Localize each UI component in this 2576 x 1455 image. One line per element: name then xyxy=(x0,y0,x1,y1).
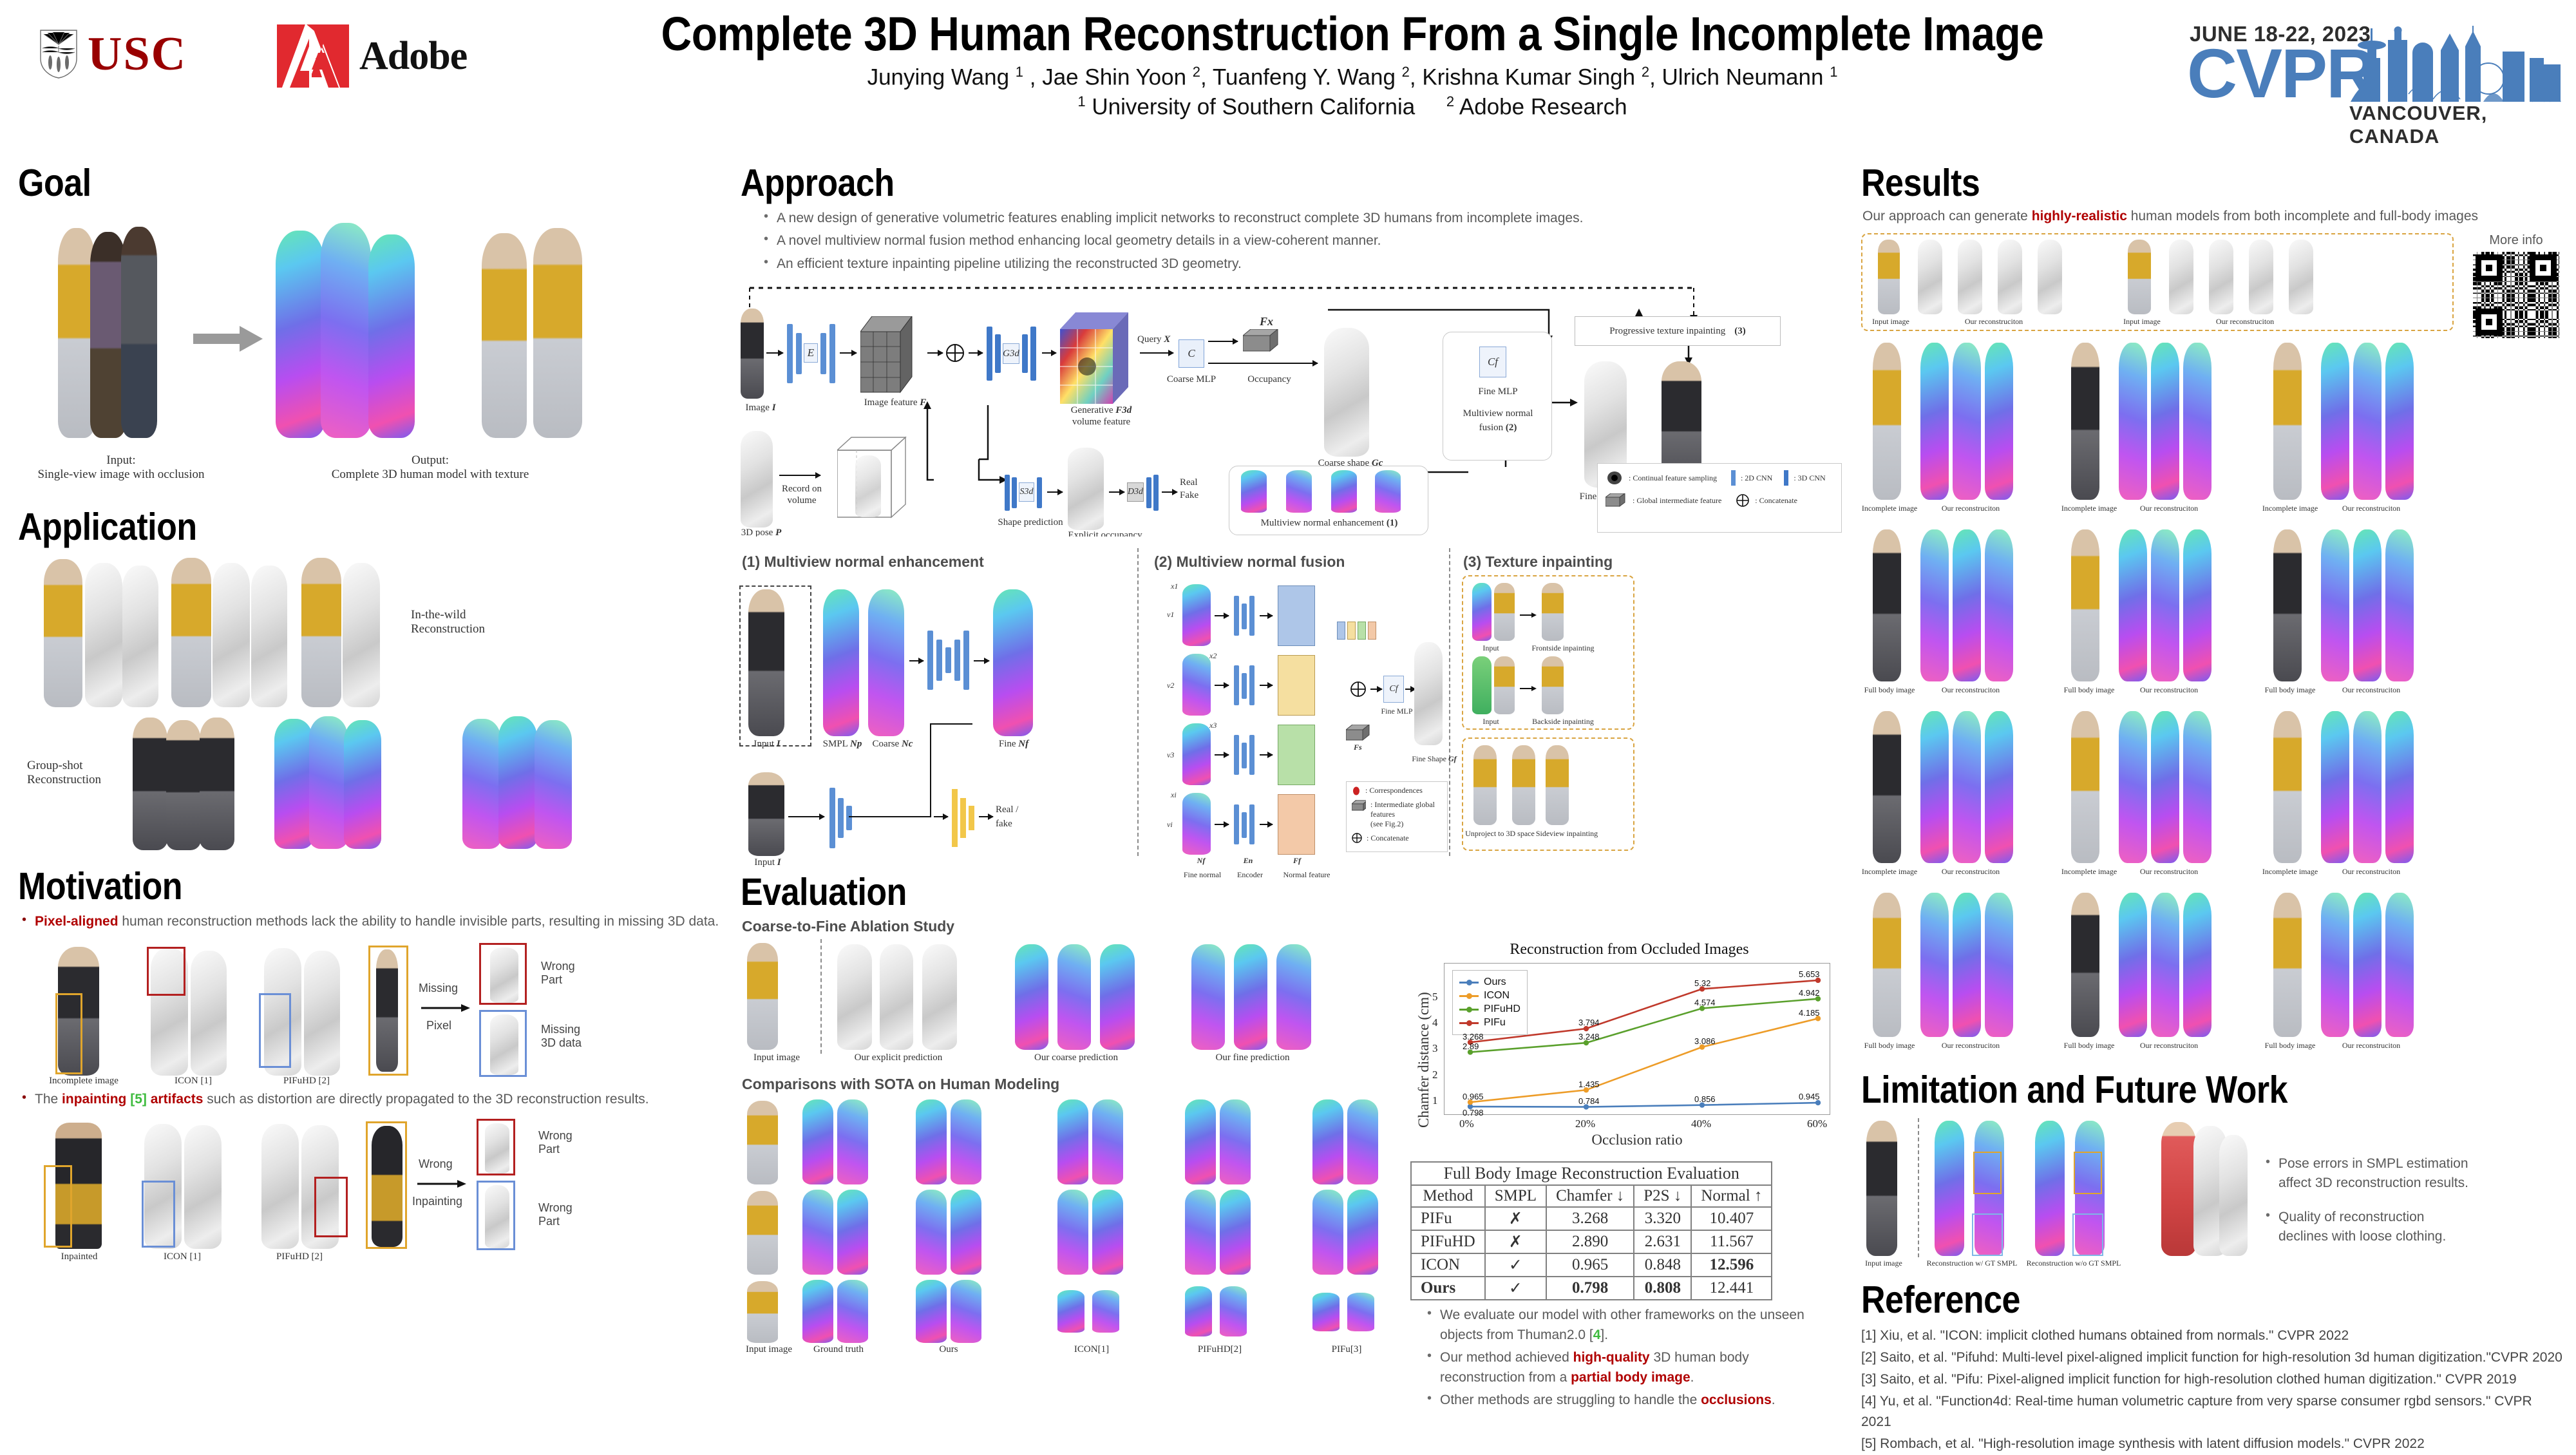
r3-label-5: Our reconstruciton xyxy=(2333,867,2410,877)
sota-r2-icon-1 xyxy=(1057,1190,1088,1275)
r2-o1b xyxy=(1953,529,1981,681)
goal-output-normal-1 xyxy=(276,231,325,438)
eval-r2-p2s: 0.848 xyxy=(1634,1253,1691,1277)
r4-in-3 xyxy=(2273,893,2302,1037)
motivation-out-mesh-3 xyxy=(485,1123,509,1174)
legend-concat-icon xyxy=(1736,493,1750,508)
results-top-label-1: Our reconstruciton xyxy=(1949,317,2039,327)
motivation-yellow-box-4 xyxy=(366,1121,407,1249)
motivation-bullet-2-post: such as distortion are directly propagat… xyxy=(203,1092,649,1107)
qr-code-icon[interactable] xyxy=(2473,252,2559,338)
goal-output-textured-1 xyxy=(482,233,527,438)
r4-label-0: Full body image xyxy=(1861,1041,1920,1051)
approach-title: Approach xyxy=(741,161,1848,205)
pipeline-fusion-text-2: fusion xyxy=(1479,423,1504,433)
r3-in-2 xyxy=(2071,711,2099,863)
r2-o1c xyxy=(1985,529,2013,681)
r4-in-1 xyxy=(1873,893,1901,1037)
sota-r2-pifuhd-2 xyxy=(1220,1190,1251,1275)
results-top-label-2: Input image xyxy=(2116,317,2168,327)
r4-in-2 xyxy=(2071,893,2099,1037)
lim-dress-photo xyxy=(2161,1122,2196,1256)
legend-item-ours: Ours xyxy=(1459,976,1520,988)
pipeline-arrow-7 xyxy=(1208,341,1238,342)
sub3-a-out-label: Frontside inpainting xyxy=(1528,643,1598,653)
r3-o1b xyxy=(1953,711,1981,863)
motivation-icon2-recon-2 xyxy=(184,1125,222,1249)
r4-o3c xyxy=(2385,893,2414,1037)
sub1-smpl-label: SMPL Np xyxy=(817,739,868,750)
sota-r3-pifuhd-2 xyxy=(1220,1286,1247,1336)
pipeline-mv-enh-1 xyxy=(1241,470,1267,513)
eval-th-method: Method xyxy=(1411,1185,1485,1207)
sub3-c-1 xyxy=(1473,745,1497,825)
chart-y-tick: 4 xyxy=(1432,1016,1438,1029)
motivation-blue-box-1 xyxy=(259,993,291,1068)
sub2-legend-igf-2: (see Fig.2) xyxy=(1370,819,1442,829)
sub2-vi: vi xyxy=(1167,820,1173,830)
motivation-arrow-icon-2 xyxy=(417,1179,466,1192)
r1-in-3 xyxy=(2273,343,2302,500)
motivation-crop-2 xyxy=(372,1126,402,1247)
motivation-out-mesh-2 xyxy=(490,1014,518,1075)
r4-label-1: Our reconstruciton xyxy=(1932,1041,2009,1051)
eval-r2-normal: 12.596 xyxy=(1691,1253,1772,1277)
pipeline-query-sym: X xyxy=(1164,334,1170,345)
r4-o1b xyxy=(1953,893,1981,1037)
sota-r2-gt-2 xyxy=(837,1190,868,1275)
chart-x-tick: 20% xyxy=(1575,1117,1595,1130)
results-subtitle-strong: highly-realistic xyxy=(2032,209,2127,223)
motivation-row2-cap-2: ICON [1] xyxy=(147,1251,218,1262)
motivation-yellow-box-1 xyxy=(55,993,82,1074)
eval-r0-method: PIFu xyxy=(1411,1207,1485,1230)
results-top-r2a xyxy=(2169,240,2193,314)
reference-item-0: [1] Xiu, et al. "ICON: implicit clothed … xyxy=(1861,1326,2563,1346)
results-subtitle-pre: Our approach can generate xyxy=(1862,209,2032,223)
motivation-out-label-4-l2: Part xyxy=(538,1215,573,1228)
r1-o1c xyxy=(1985,343,2013,500)
eval-r0-normal: 10.407 xyxy=(1691,1207,1772,1230)
pipeline-volume-mesh xyxy=(855,455,881,517)
sub3-b-in-1 xyxy=(1472,656,1492,714)
sub1-input2-text: Input xyxy=(754,857,775,868)
motivation-bullet-2-strong2: artifacts xyxy=(151,1092,204,1107)
r2-label-5: Our reconstruciton xyxy=(2333,685,2410,695)
motivation-row2-cap-1: Inpainted xyxy=(44,1251,115,1262)
motivation-crop-1 xyxy=(376,949,398,1072)
cvpr-logo: JUNE 18-22, 2023 CVPR VANCOUVER, CANADA xyxy=(2190,12,2563,134)
sub2-feat-4 xyxy=(1278,794,1315,855)
eval-table-header-row: Method SMPL Chamfer ↓ P2S ↓ Normal ↑ xyxy=(1411,1185,1772,1207)
pipeline-generative-text-1: Generative xyxy=(1071,405,1113,415)
goal-output-normal-3 xyxy=(368,234,415,438)
chart-x-tick: 40% xyxy=(1691,1117,1711,1130)
app-group-norm-2 xyxy=(309,716,348,849)
sub3-box-a: Input Frontside inpainting Input Backsid… xyxy=(1462,575,1634,730)
sota-r1-pifu-2 xyxy=(1347,1099,1378,1184)
subdiagram-2-title: (2) Multiview normal fusion xyxy=(1154,553,1443,571)
motivation-bullet-list-2: The inpainting [5] artifacts such as dis… xyxy=(18,1090,733,1109)
sub1-arrow-1 xyxy=(909,660,923,661)
evaluation-bullet-2: Other methods are struggling to handle t… xyxy=(1423,1391,1835,1410)
sub2-concat-icon xyxy=(1350,681,1367,701)
r1-o3b xyxy=(2353,343,2382,500)
motivation-out-red-2 xyxy=(477,1119,515,1175)
motivation-out-label-3-l2: Part xyxy=(538,1143,573,1156)
pipeline-fx-text: Fx xyxy=(1260,315,1273,328)
legend-item-pifuhd: PIFuHD xyxy=(1459,1003,1520,1015)
chart-x-tick: 60% xyxy=(1807,1117,1827,1130)
sub1-input-label: Input I xyxy=(744,739,790,750)
motivation-bullet-2: The inpainting [5] artifacts such as dis… xyxy=(18,1090,733,1109)
sub1-smpl-text: SMPL xyxy=(823,739,848,749)
motivation-icon-recon-2 xyxy=(191,951,227,1076)
sota-r1-ours-2 xyxy=(951,1099,981,1184)
sub2-fine-shape-sym: Gf xyxy=(1448,754,1457,763)
motivation-out-label-3-l1: Wrong xyxy=(538,1129,573,1143)
sub2-global-feature-legend-icon xyxy=(1352,800,1366,812)
motivation-out-mesh-1 xyxy=(490,947,518,1003)
pipeline-fine-mlp: Cf xyxy=(1479,347,1506,377)
ablation-figure: Input image Our explicit prediction Our … xyxy=(741,939,1404,1068)
goal-input-person-3 xyxy=(121,227,157,438)
pipeline-arrow-11 xyxy=(1109,491,1124,493)
eval-r2-smpl: ✓ xyxy=(1485,1253,1546,1277)
approach-subdiagrams: (1) Multiview normal enhancement Input I… xyxy=(741,548,1848,857)
sota-r3-gt-2 xyxy=(837,1280,868,1343)
pipeline-fusion-label-1: Multiview normal xyxy=(1443,408,1553,419)
sub1-input-img xyxy=(748,589,784,736)
chart-y-tick: 5 xyxy=(1432,991,1438,1003)
eval-r0-smpl: ✗ xyxy=(1485,1207,1546,1230)
r2-o2a xyxy=(2119,529,2147,681)
sota-r1-pifuhd-1 xyxy=(1185,1099,1216,1184)
sub1-arrow-4 xyxy=(934,816,948,817)
motivation-pifuhd2-recon-1 xyxy=(261,1124,299,1249)
pipeline-3dpose-mesh xyxy=(741,431,773,528)
pipeline-pose-sym: P xyxy=(775,528,781,537)
legend-item-pifu: PIFu xyxy=(1459,1017,1520,1029)
sub1-smpl-normal xyxy=(823,589,859,736)
motivation-out-label-3: Wrong Part xyxy=(538,1129,573,1156)
sota-r3-gt-1 xyxy=(802,1280,833,1343)
pipeline-concat-icon-1 xyxy=(945,343,965,366)
eval-r0-chamfer: 3.268 xyxy=(1546,1207,1634,1230)
right-column: Results Our approach can generate highly… xyxy=(1861,161,2563,1455)
motivation-out-mesh-4 xyxy=(485,1185,509,1248)
results-top-r2b xyxy=(2209,240,2233,314)
sub2-x3: x3 xyxy=(1209,721,1217,730)
sub1-input-sym: I xyxy=(777,739,781,749)
results-subtitle-post: human models from both incomplete and fu… xyxy=(2127,209,2478,223)
lim-input xyxy=(1866,1121,1897,1256)
goal-input-caption-line1: Input: xyxy=(31,453,211,468)
app-person-b1 xyxy=(171,558,211,707)
sub3-b-out-label: Backside inpainting xyxy=(1528,717,1598,727)
sub3-c-in-label: Unproject to 3D space xyxy=(1464,829,1535,839)
chart-point-label: 3.086 xyxy=(1694,1036,1716,1046)
r2-label-0: Full body image xyxy=(1861,685,1920,695)
eval-th-p2s: P2S ↓ xyxy=(1634,1185,1691,1207)
ablation-explicit-2 xyxy=(880,944,913,1050)
r3-o2c xyxy=(2183,711,2211,863)
eval-th-smpl: SMPL xyxy=(1485,1185,1546,1207)
sub2-arrow-2 xyxy=(1215,685,1229,686)
ablation-fine-3 xyxy=(1276,944,1311,1050)
approach-pipeline-figure: Image I E xyxy=(741,279,1848,537)
lim-orange-box-2 xyxy=(2074,1152,2102,1194)
motivation-out-red-1 xyxy=(479,943,527,1005)
pipeline-generative-volume xyxy=(1060,312,1137,410)
results-top-box: Input image Our reconstruciton Input ima… xyxy=(1861,233,2454,331)
evaluation-bullet-1-pre: Our method achieved xyxy=(1440,1350,1573,1365)
pipeline-occupancy-label: Occupancy xyxy=(1240,374,1298,385)
r4-o3a xyxy=(2321,893,2349,1037)
motivation-out-label-1-l2: Part xyxy=(541,973,575,987)
sub2-arrow-4 xyxy=(1215,824,1229,825)
ablation-coarse-3 xyxy=(1100,944,1135,1050)
pipeline-volume-box xyxy=(837,436,914,523)
ablation-subtitle: Coarse-to-Fine Ablation Study xyxy=(742,918,1848,935)
results-row-4: Full body image Our reconstruciton Full … xyxy=(1861,890,2563,1064)
subdiagram-3: (3) Texture inpainting Input Frontside i… xyxy=(1462,548,1655,575)
pipeline-coarse-shape-mesh xyxy=(1324,328,1369,457)
chart-point-label: 0.856 xyxy=(1694,1094,1716,1104)
title-block: Complete 3D Human Reconstruction From a … xyxy=(528,9,2177,122)
pipeline-coarse-mlp-sym: C xyxy=(1188,347,1195,360)
sota-r1-icon-2 xyxy=(1092,1099,1123,1184)
lim-dress-mesh-2 xyxy=(2219,1135,2248,1256)
motivation-yellow-box-3 xyxy=(44,1165,72,1248)
r2-in-1 xyxy=(1873,529,1901,681)
sub2-view-1 xyxy=(1182,584,1211,646)
evaluation-bullet-0: We evaluate our model with other framewo… xyxy=(1423,1306,1835,1345)
evaluation-bullet-0-post: ]. xyxy=(1600,1327,1608,1342)
results-subtitle: Our approach can generate highly-realist… xyxy=(1862,209,2563,224)
poster-header: USC Adobe Complete 3D Human Reconstructi… xyxy=(0,0,2576,148)
pipeline-query-text: Query xyxy=(1137,334,1162,345)
eval-table: Full Body Image Reconstruction Evaluatio… xyxy=(1410,1161,1772,1300)
goal-output-textured-2 xyxy=(533,228,582,438)
lim-gt-1 xyxy=(1935,1121,1964,1256)
legend-2dcnn-label: : 2D CNN xyxy=(1741,473,1772,483)
reference-item-1: [2] Saito, et al. "Pifuhd: Multi-level p… xyxy=(1861,1347,2563,1368)
pipeline-fusion-label-2: fusion (2) xyxy=(1443,423,1553,433)
pipeline-input-image xyxy=(741,309,764,399)
evaluation-bullet-1-strong2: partial body image xyxy=(1571,1370,1690,1385)
r1-label-2: Incomplete image xyxy=(2058,504,2120,513)
chart-point-label: 5.653 xyxy=(1799,969,1820,979)
app-group-photo-2 xyxy=(166,720,201,850)
vancouver-skyline-icon xyxy=(2351,24,2563,103)
subdiagram-1: (1) Multiview normal enhancement Input I… xyxy=(741,548,1127,575)
sub2-fine-shape-text: Fine Shape xyxy=(1412,754,1446,763)
adobe-logo-text: Adobe xyxy=(359,33,467,79)
usc-shield-icon xyxy=(39,29,79,79)
pipeline-mv-enh-box: Multiview normal enhancement (1) xyxy=(1229,466,1428,535)
chart-y-tick: 1 xyxy=(1432,1094,1438,1107)
sub2-x1: x1 xyxy=(1171,582,1178,591)
pipeline-explicit-occ-label: Explicit occupancy xyxy=(1060,530,1150,537)
motivation-out-label-2: Missing 3D data xyxy=(541,1023,582,1050)
chart-point-label: 3.268 xyxy=(1463,1032,1484,1041)
limitation-bullet-1: Quality of reconstruction declines with … xyxy=(2262,1208,2474,1247)
cvpr-wordmark: CVPR xyxy=(2187,44,2375,104)
sub2-fine-shape-mesh xyxy=(1414,642,1443,745)
reference-item-2: [3] Saito, et al. "Pifu: Pixel-aligned i… xyxy=(1861,1369,2563,1390)
pipeline-arrow-10 xyxy=(1047,491,1063,493)
sub1-coarse-label: Coarse Nc xyxy=(864,739,921,750)
sub3-a-in-1 xyxy=(1472,583,1492,641)
r3-label-2: Incomplete image xyxy=(2058,867,2120,877)
sota-r1-gt-1 xyxy=(802,1099,833,1184)
r3-o3b xyxy=(2353,711,2382,863)
pipeline-d3d-sym: D3d xyxy=(1128,487,1143,497)
subdiagram-3-title: (3) Texture inpainting xyxy=(1463,553,1655,571)
app-person-b3 xyxy=(251,566,287,707)
pipeline-fake-label: Fake xyxy=(1180,490,1218,501)
pipeline-mv-enh-num: (1) xyxy=(1387,518,1398,528)
limitation-bullet-0: Pose errors in SMPL estimation affect 3D… xyxy=(2262,1154,2474,1193)
sota-label-4: PIFuHD[2] xyxy=(1181,1344,1258,1355)
legend-global-feature-label: : Global intermediate feature xyxy=(1633,496,1721,506)
sota-r2-pifu-2 xyxy=(1347,1190,1378,1275)
sub3-a-out xyxy=(1542,583,1564,641)
sota-r3-ours-1 xyxy=(916,1280,947,1343)
results-title: Results xyxy=(1861,161,2563,205)
goal-figure xyxy=(18,209,733,453)
sub2-v3: v3 xyxy=(1167,750,1174,760)
pipeline-mv-enh-2 xyxy=(1286,470,1312,513)
pipeline-arrow-12 xyxy=(1162,491,1177,493)
motivation-row1-cap-2: ICON [1] xyxy=(155,1076,232,1087)
cvpr-city: VANCOUVER, CANADA xyxy=(2349,102,2563,148)
r3-o1a xyxy=(1920,711,1949,863)
r4-label-3: Our reconstruciton xyxy=(2130,1041,2208,1051)
ablation-label-0: Input image xyxy=(741,1052,815,1063)
subdiagram-2: (2) Multiview normal fusion x1 v1 x2 v2 … xyxy=(1153,548,1443,575)
sub3-c-3 xyxy=(1546,745,1569,825)
r3-o1c xyxy=(1985,711,2013,863)
sota-label-0: Input image xyxy=(741,1344,808,1355)
eval-r1-smpl: ✗ xyxy=(1485,1230,1546,1253)
r3-o2b xyxy=(2151,711,2179,863)
chart-point-label: 4.574 xyxy=(1694,998,1716,1007)
motivation-arrow-label-top-1: Missing xyxy=(419,982,458,995)
app-person-c2 xyxy=(343,563,380,707)
sub2-arrow-6 xyxy=(1260,685,1273,686)
pipeline-encoder-sym: E xyxy=(808,347,814,359)
r1-o3a xyxy=(2321,343,2349,500)
section-reference: Reference [1] Xiu, et al. "ICON: implici… xyxy=(1861,1278,2563,1454)
sub2-view-2 xyxy=(1182,654,1211,716)
motivation-bullet-2-strong1: inpainting xyxy=(62,1092,126,1107)
sub1-fine-text: Fine xyxy=(999,739,1016,749)
r1-o3c xyxy=(2385,343,2414,500)
application-group-label-line1: Group-shot xyxy=(27,759,149,773)
sub2-feat-2 xyxy=(1278,655,1315,716)
chart-point-label: 4.185 xyxy=(1799,1008,1820,1018)
motivation-out-label-1-l1: Wrong xyxy=(541,960,575,973)
eval-table-wrap: Full Body Image Reconstruction Evaluatio… xyxy=(1410,1161,1772,1300)
motivation-row1-figure: Missing Pixel Wrong Part Missing 3D data… xyxy=(18,937,733,1087)
pipeline-query-label: Query X xyxy=(1137,334,1170,345)
app-person-a1 xyxy=(44,559,82,707)
ablation-fine-1 xyxy=(1191,944,1225,1050)
pipeline-arrow-9 xyxy=(779,475,820,476)
approach-bullet-1: A novel multiview normal fusion method e… xyxy=(760,231,1848,251)
r2-o3b xyxy=(2353,529,2382,681)
sub2-fs-sym: Fs xyxy=(1354,743,1362,752)
lim-blue-box-2 xyxy=(2072,1213,2103,1256)
ablation-explicit-1 xyxy=(837,944,872,1050)
sub2-arrow-9 xyxy=(1370,689,1382,690)
sota-r2-ours-1 xyxy=(916,1190,947,1275)
pipeline-arrow-8 xyxy=(1208,363,1318,364)
chart-legend: Ours ICON PIFuHD PIFu xyxy=(1452,970,1528,1035)
section-limitation: Limitation and Future Work Input image R… xyxy=(1861,1068,2563,1277)
sota-label-1: Ground truth xyxy=(800,1344,877,1355)
results-top-r1b xyxy=(1958,240,1982,314)
pipeline-real-label: Real xyxy=(1180,477,1218,488)
ablation-input xyxy=(747,943,778,1050)
legend-item-icon: ICON xyxy=(1459,990,1520,1002)
section-goal: Goal Input: Single-view image with occlu… xyxy=(18,161,733,488)
subdiagram-1-title: (1) Multiview normal enhancement xyxy=(742,553,1127,571)
sub1-coarse-normal xyxy=(868,589,904,736)
r1-o2b xyxy=(2151,343,2179,500)
eval-r3-chamfer: 0.798 xyxy=(1546,1277,1634,1300)
r1-o2a xyxy=(2119,343,2147,500)
motivation-bullet-1: Pixel-aligned human reconstruction metho… xyxy=(18,912,733,931)
app-group-norm-1 xyxy=(274,719,313,849)
sota-r1-pifu-1 xyxy=(1312,1099,1343,1184)
sota-r3-pifuhd-1 xyxy=(1185,1286,1212,1336)
sub2-arrow-5 xyxy=(1260,615,1273,616)
chart-x-tick: 0% xyxy=(1459,1117,1474,1130)
section-application: Application In-the-wild Reconstruction G… xyxy=(18,505,733,855)
sub2-fine-normal-sym: Nf xyxy=(1179,856,1224,866)
pipeline-fx-sym: Fx xyxy=(1260,315,1273,328)
results-grid: Incomplete image Our reconstruciton Inco… xyxy=(1861,340,2563,1064)
ablation-coarse-2 xyxy=(1057,944,1091,1050)
r1-label-3: Our reconstruciton xyxy=(2130,504,2208,513)
results-top-in-2 xyxy=(2128,240,2151,314)
motivation-out-label-1: Wrong Part xyxy=(541,960,575,987)
chart-ylabel: Chamfer distance (cm) xyxy=(1416,993,1432,1128)
sub3-b-out xyxy=(1542,656,1564,714)
legend-3dcnn-label: : 3D CNN xyxy=(1794,473,1825,483)
sota-r1-input xyxy=(747,1101,778,1184)
sota-r2-pifuhd-1 xyxy=(1185,1190,1216,1275)
sub2-arrow-1 xyxy=(1215,615,1229,616)
motivation-row1-cap-1: Incomplete image xyxy=(45,1076,122,1087)
sota-r1-ours-1 xyxy=(916,1099,947,1184)
sub3-box-c: Unproject to 3D space Sideview inpaintin… xyxy=(1462,737,1634,851)
chart-plot-area: Ours ICON PIFuHD PIFu 0.7980.7840.8560.9… xyxy=(1444,963,1830,1115)
table-row: ICON ✓ 0.965 0.848 12.596 xyxy=(1411,1253,1772,1277)
results-top-label-3: Our reconstruciton xyxy=(2200,317,2290,327)
chart-point-label: 3.794 xyxy=(1578,1018,1600,1027)
pipeline-prog-texture-box: Progressive texture inpainting (3) xyxy=(1575,316,1781,346)
sota-label-2: Ours xyxy=(913,1344,984,1355)
r3-o3c xyxy=(2385,711,2414,863)
app-person-b2 xyxy=(213,563,250,707)
sub2-fine-mlp-sym: Cf xyxy=(1389,684,1397,694)
results-top-label-0: Input image xyxy=(1865,317,1917,327)
eval-r1-normal: 11.567 xyxy=(1691,1230,1772,1253)
